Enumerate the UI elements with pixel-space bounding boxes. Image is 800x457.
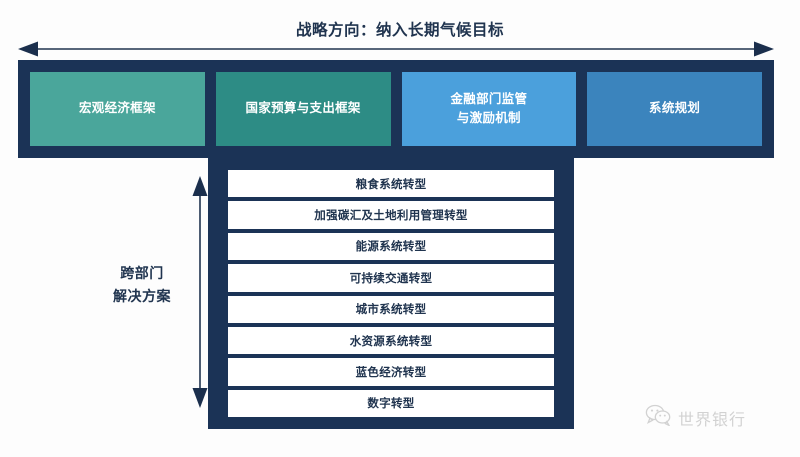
solution-row[interactable]: 城市系统转型 [228, 296, 554, 323]
horizontal-double-arrow [18, 40, 774, 58]
pillar-box-system-planning[interactable]: 系统规划 [587, 72, 762, 146]
solution-label: 数字转型 [367, 395, 414, 411]
solution-label: 城市系统转型 [356, 301, 427, 317]
vertical-double-arrow [191, 176, 209, 408]
pillar-label: 金融部门监管 与激励机制 [450, 90, 527, 129]
solution-label: 粮食系统转型 [356, 176, 427, 192]
solution-row[interactable]: 水资源系统转型 [228, 327, 554, 354]
diagram-canvas: 战略方向：纳入长期气候目标 宏观经济框架 国家预算与支出框架 金融部门监管 与激… [0, 0, 800, 457]
cross-sector-label-line1: 跨部门 [96, 262, 188, 285]
pillar-box-financial-sector[interactable]: 金融部门监管 与激励机制 [402, 72, 577, 146]
solution-row-group: 粮食系统转型 加强碳汇及土地利用管理转型 能源系统转型 可持续交通转型 城市系统… [228, 170, 554, 417]
pillar-box-macroeconomic[interactable]: 宏观经济框架 [30, 72, 205, 146]
solution-label: 水资源系统转型 [350, 333, 433, 349]
solution-row[interactable]: 蓝色经济转型 [228, 358, 554, 385]
watermark-text: 世界银行 [678, 406, 746, 430]
cross-sector-label: 跨部门 解决方案 [96, 262, 188, 307]
solution-label: 能源系统转型 [356, 238, 427, 254]
solution-row[interactable]: 能源系统转型 [228, 233, 554, 260]
cross-sector-label-line2: 解决方案 [96, 285, 188, 308]
pillar-label-line1: 金融部门监管 [450, 92, 527, 106]
pillar-label: 系统规划 [649, 99, 700, 118]
wechat-logo-icon [645, 404, 671, 431]
solution-row[interactable]: 加强碳汇及土地利用管理转型 [228, 201, 554, 228]
solution-row[interactable]: 数字转型 [228, 390, 554, 417]
pillar-box-budget[interactable]: 国家预算与支出框架 [216, 72, 391, 146]
solution-row[interactable]: 可持续交通转型 [228, 264, 554, 291]
pillar-label: 宏观经济框架 [79, 99, 156, 118]
pillar-box-group: 宏观经济框架 国家预算与支出框架 金融部门监管 与激励机制 系统规划 [30, 72, 762, 146]
pillar-label: 国家预算与支出框架 [246, 99, 361, 118]
solution-row[interactable]: 粮食系统转型 [228, 170, 554, 197]
solution-label: 蓝色经济转型 [356, 364, 427, 380]
watermark: 世界银行 [645, 404, 746, 431]
solution-label: 可持续交通转型 [350, 270, 433, 286]
pillar-label-line2: 与激励机制 [457, 111, 521, 125]
page-title: 战略方向：纳入长期气候目标 [0, 18, 800, 40]
solution-label: 加强碳汇及土地利用管理转型 [314, 207, 467, 223]
